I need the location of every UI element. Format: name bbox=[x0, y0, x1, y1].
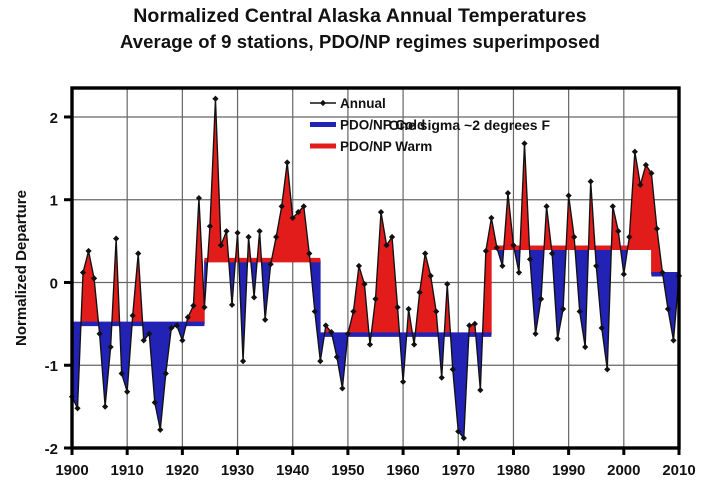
annual-data-point bbox=[610, 203, 616, 209]
annual-data-point bbox=[262, 317, 268, 323]
annual-data-point bbox=[406, 306, 412, 312]
annual-data-point bbox=[632, 149, 638, 155]
annual-data-point bbox=[245, 234, 251, 240]
y-axis-label: Normalized Departure bbox=[13, 190, 30, 346]
annual-data-point bbox=[212, 96, 218, 102]
annual-data-point bbox=[317, 358, 323, 364]
legend-item-label: Annual bbox=[340, 96, 386, 111]
annual-data-point bbox=[251, 294, 257, 300]
x-tick-label: 1990 bbox=[552, 462, 585, 479]
annual-data-point bbox=[566, 192, 572, 198]
annual-data-point bbox=[422, 250, 428, 256]
y-axis-tick-labels: 210-1-2 bbox=[45, 110, 58, 458]
chart-annotations: One sigma ~2 degrees F bbox=[389, 117, 551, 133]
x-tick-label: 1980 bbox=[497, 462, 530, 479]
annual-data-point bbox=[588, 178, 594, 184]
annual-data-point bbox=[284, 159, 290, 165]
sigma-annotation: One sigma ~2 degrees F bbox=[389, 117, 551, 133]
legend-marker-icon bbox=[320, 100, 326, 106]
annual-data-point bbox=[85, 248, 91, 254]
annual-data-point bbox=[179, 337, 185, 343]
annual-data-point bbox=[543, 203, 549, 209]
annual-data-point bbox=[135, 250, 141, 256]
annual-data-point bbox=[488, 215, 494, 221]
x-tick-label: 1920 bbox=[166, 462, 199, 479]
annual-data-point bbox=[378, 209, 384, 215]
y-tick-label: -1 bbox=[45, 358, 58, 375]
annual-data-point bbox=[477, 387, 483, 393]
y-axis-title: Normalized Departure bbox=[13, 190, 30, 346]
annual-data-point bbox=[411, 341, 417, 347]
annual-data-point bbox=[516, 269, 522, 275]
annual-data-point bbox=[670, 337, 676, 343]
x-tick-label: 1950 bbox=[331, 462, 364, 479]
x-tick-label: 2000 bbox=[607, 462, 640, 479]
x-tick-label: 1910 bbox=[110, 462, 143, 479]
annual-data-point bbox=[124, 389, 130, 395]
annual-data-point bbox=[113, 236, 119, 242]
y-tick-label: 0 bbox=[50, 275, 58, 292]
annual-data-point bbox=[157, 427, 163, 433]
annual-data-point bbox=[229, 302, 235, 308]
annual-data-point bbox=[532, 331, 538, 337]
annual-data-point bbox=[555, 336, 561, 342]
legend-item-label: PDO/NP Warm bbox=[340, 139, 432, 154]
annual-data-point bbox=[604, 366, 610, 372]
x-tick-label: 1900 bbox=[55, 462, 88, 479]
annual-data-point bbox=[74, 405, 80, 411]
x-tick-label: 1970 bbox=[442, 462, 475, 479]
annual-data-point bbox=[223, 228, 229, 234]
annual-data-point bbox=[505, 190, 511, 196]
annual-data-point bbox=[234, 230, 240, 236]
annual-data-point bbox=[521, 140, 527, 146]
y-tick-label: 2 bbox=[50, 110, 58, 127]
annual-data-point bbox=[257, 228, 263, 234]
temperature-anomaly-chart: 1900191019201930194019501960197019801990… bbox=[0, 0, 720, 501]
chart-page: Normalized Central Alaska Annual Tempera… bbox=[0, 0, 720, 501]
warm-anomaly-area bbox=[81, 251, 99, 324]
x-tick-label: 1930 bbox=[221, 462, 254, 479]
annual-data-point bbox=[439, 375, 445, 381]
x-tick-label: 1960 bbox=[386, 462, 419, 479]
y-tick-label: -2 bbox=[45, 441, 58, 458]
annual-data-point bbox=[499, 263, 505, 269]
x-tick-label: 1940 bbox=[276, 462, 309, 479]
annual-data-point bbox=[356, 263, 362, 269]
annual-data-point bbox=[367, 341, 373, 347]
x-tick-label: 2010 bbox=[662, 462, 695, 479]
annual-data-point bbox=[582, 344, 588, 350]
annual-data-point bbox=[400, 379, 406, 385]
annual-data-point bbox=[621, 271, 627, 277]
annual-data-point bbox=[240, 358, 246, 364]
annual-data-point bbox=[339, 385, 345, 391]
x-axis-tick-labels: 1900191019201930194019501960197019801990… bbox=[55, 462, 695, 479]
y-tick-label: 1 bbox=[50, 193, 58, 210]
annual-data-point bbox=[102, 404, 108, 410]
